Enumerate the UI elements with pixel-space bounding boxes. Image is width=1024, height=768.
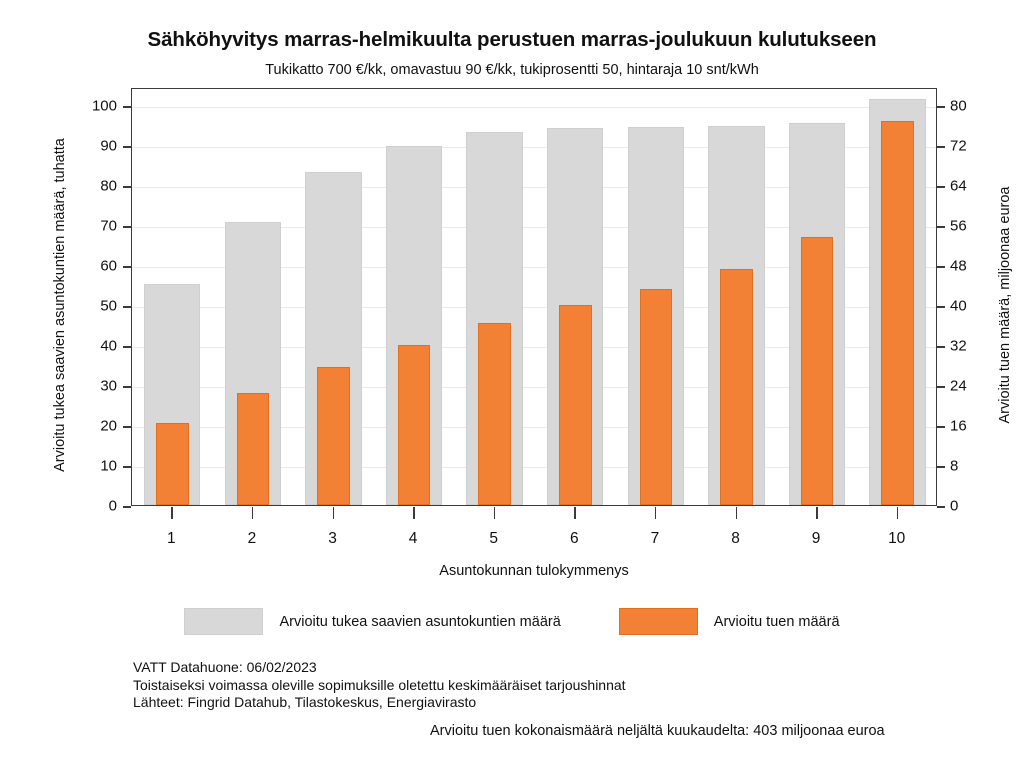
legend-swatch-gray — [184, 608, 263, 635]
bar-group — [225, 89, 281, 505]
y-tick-right — [937, 146, 945, 148]
chart-figure: Sähköhyvitys marras-helmikuulta perustue… — [0, 0, 1024, 768]
x-tick-label: 3 — [303, 530, 363, 548]
y-axis-right-title: Arvioitu tuen määrä, miljoonaa euroa — [997, 95, 1013, 515]
y-tick-right — [937, 266, 945, 268]
y-tick-left — [123, 306, 131, 308]
y-tick-right — [937, 426, 945, 428]
y-tick-right — [937, 386, 945, 388]
bars-layer — [132, 89, 936, 505]
bar-support-amount — [559, 305, 592, 505]
bar-support-amount — [317, 367, 350, 505]
x-tick — [897, 507, 899, 519]
y-tick-left — [123, 106, 131, 108]
bar-group — [708, 89, 764, 505]
x-tick — [171, 507, 173, 519]
y-axis-left-title: Arvioitu tukea saavien asuntokuntien mää… — [52, 95, 68, 515]
legend-swatch-orange — [619, 608, 698, 635]
footer-total-support: Arvioitu tuen kokonaismäärä neljältä kuu… — [430, 723, 885, 739]
bar-group — [547, 89, 603, 505]
y-tick-left — [123, 506, 131, 508]
bar-support-amount — [640, 289, 673, 505]
y-tick-right — [937, 106, 945, 108]
x-tick-label: 1 — [141, 530, 201, 548]
y-tick-right — [937, 466, 945, 468]
x-tick — [736, 507, 738, 519]
legend-label: Arvioitu tuen määrä — [714, 614, 840, 630]
x-tick-label: 6 — [544, 530, 604, 548]
y-tick-right — [937, 306, 945, 308]
y-tick-right — [937, 506, 945, 508]
bar-support-amount — [720, 269, 753, 505]
bar-group — [305, 89, 361, 505]
x-tick — [655, 507, 657, 519]
x-tick-label: 10 — [867, 530, 927, 548]
legend-item: Arvioitu tuen määrä — [619, 608, 840, 635]
x-tick — [252, 507, 254, 519]
bar-support-amount — [478, 323, 511, 505]
x-tick — [574, 507, 576, 519]
x-axis-title: Asuntokunnan tulokymmenys — [131, 563, 937, 579]
chart-legend: Arvioitu tukea saavien asuntokuntien mää… — [0, 608, 1024, 635]
chart-title: Sähköhyvitys marras-helmikuulta perustue… — [0, 28, 1024, 52]
bar-group — [628, 89, 684, 505]
bar-support-amount — [881, 121, 914, 505]
bar-support-amount — [156, 423, 189, 505]
plot-area — [131, 88, 937, 506]
bar-support-amount — [398, 345, 431, 505]
y-tick-right — [937, 346, 945, 348]
x-tick — [494, 507, 496, 519]
chart-subtitle: Tukikatto 700 €/kk, omavastuu 90 €/kk, t… — [0, 62, 1024, 78]
footer-notes: VATT Datahuone: 06/02/2023 Toistaiseksi … — [133, 659, 626, 712]
bar-group — [144, 89, 200, 505]
x-tick — [816, 507, 818, 519]
x-tick — [333, 507, 335, 519]
x-tick — [413, 507, 415, 519]
legend-item: Arvioitu tukea saavien asuntokuntien mää… — [184, 608, 560, 635]
x-tick-label: 4 — [383, 530, 443, 548]
plot-inner — [132, 89, 936, 505]
y-tick-right — [937, 186, 945, 188]
bar-group — [869, 89, 925, 505]
y-tick-left — [123, 226, 131, 228]
bar-support-amount — [801, 237, 834, 505]
y-tick-left — [123, 346, 131, 348]
x-tick-label: 2 — [222, 530, 282, 548]
legend-label: Arvioitu tukea saavien asuntokuntien mää… — [279, 614, 560, 630]
footer-line-2: Toistaiseksi voimassa oleville sopimuksi… — [133, 677, 626, 695]
y-tick-left — [123, 266, 131, 268]
bar-group — [466, 89, 522, 505]
y-tick-right — [937, 226, 945, 228]
x-tick-label: 5 — [464, 530, 524, 548]
y-tick-left — [123, 186, 131, 188]
y-tick-left — [123, 146, 131, 148]
y-tick-left — [123, 386, 131, 388]
y-tick-left — [123, 466, 131, 468]
x-tick-label: 9 — [786, 530, 846, 548]
footer-line-3: Lähteet: Fingrid Datahub, Tilastokeskus,… — [133, 694, 626, 712]
x-tick-label: 7 — [625, 530, 685, 548]
y-tick-left — [123, 426, 131, 428]
bar-group — [386, 89, 442, 505]
footer-line-1: VATT Datahuone: 06/02/2023 — [133, 659, 626, 677]
bar-group — [789, 89, 845, 505]
x-tick-label: 8 — [706, 530, 766, 548]
bar-support-amount — [237, 393, 270, 505]
